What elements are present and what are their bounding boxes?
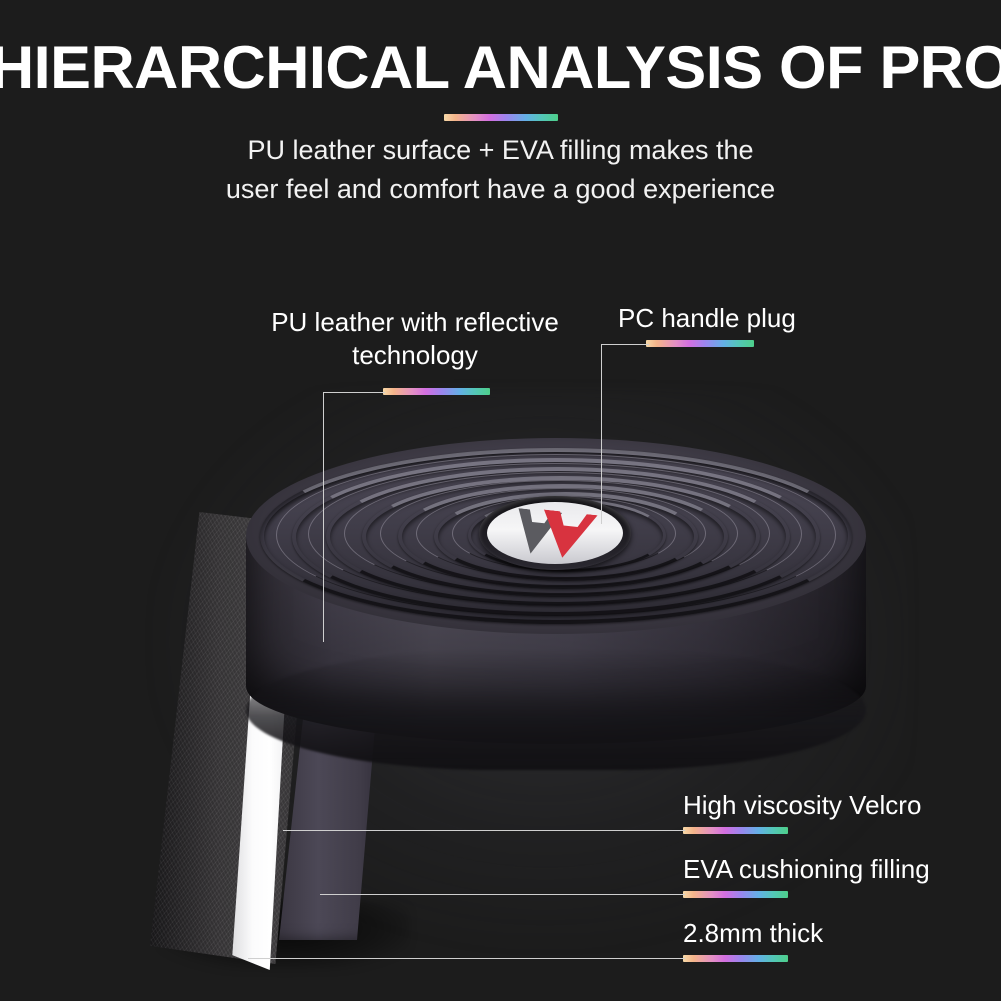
tape-roll bbox=[246, 438, 866, 798]
callout-gradient-bar-pu-leather bbox=[383, 388, 490, 395]
callout-label-thickness: 2.8mm thick bbox=[683, 917, 823, 950]
callout-label-velcro: High viscosity Velcro bbox=[683, 789, 921, 822]
roll-spiral-face bbox=[246, 438, 866, 634]
cap-logo-face bbox=[487, 502, 623, 564]
callout-leader-vertical-pc-handle-plug bbox=[601, 344, 602, 524]
callout-gradient-bar-thickness bbox=[683, 955, 788, 962]
handle-plug-cap bbox=[479, 496, 631, 570]
callout-leader-thickness bbox=[248, 958, 685, 959]
callout-leader-vertical-pu-leather bbox=[323, 392, 324, 642]
callout-label-pu-leather: PU leather with reflective technology bbox=[255, 306, 575, 372]
callout-gradient-bar-velcro bbox=[683, 827, 788, 834]
callout-leader-eva-filling bbox=[320, 894, 685, 895]
callout-label-eva-filling: EVA cushioning filling bbox=[683, 853, 930, 886]
callout-label-pc-handle-plug: PC handle plug bbox=[618, 302, 838, 335]
callout-leader-horizontal-pu-leather bbox=[323, 392, 385, 393]
product-infographic: HIERARCHICAL ANALYSIS OF PRODUCTS PU lea… bbox=[0, 0, 1001, 1001]
callout-leader-velcro bbox=[283, 830, 685, 831]
roll-body-shading bbox=[246, 650, 866, 770]
callout-gradient-bar-eva-filling bbox=[683, 891, 788, 898]
callout-gradient-bar-pc-handle-plug bbox=[646, 340, 754, 347]
product-photo bbox=[0, 0, 1001, 1001]
callout-leader-horizontal-pc-handle-plug bbox=[601, 344, 649, 345]
